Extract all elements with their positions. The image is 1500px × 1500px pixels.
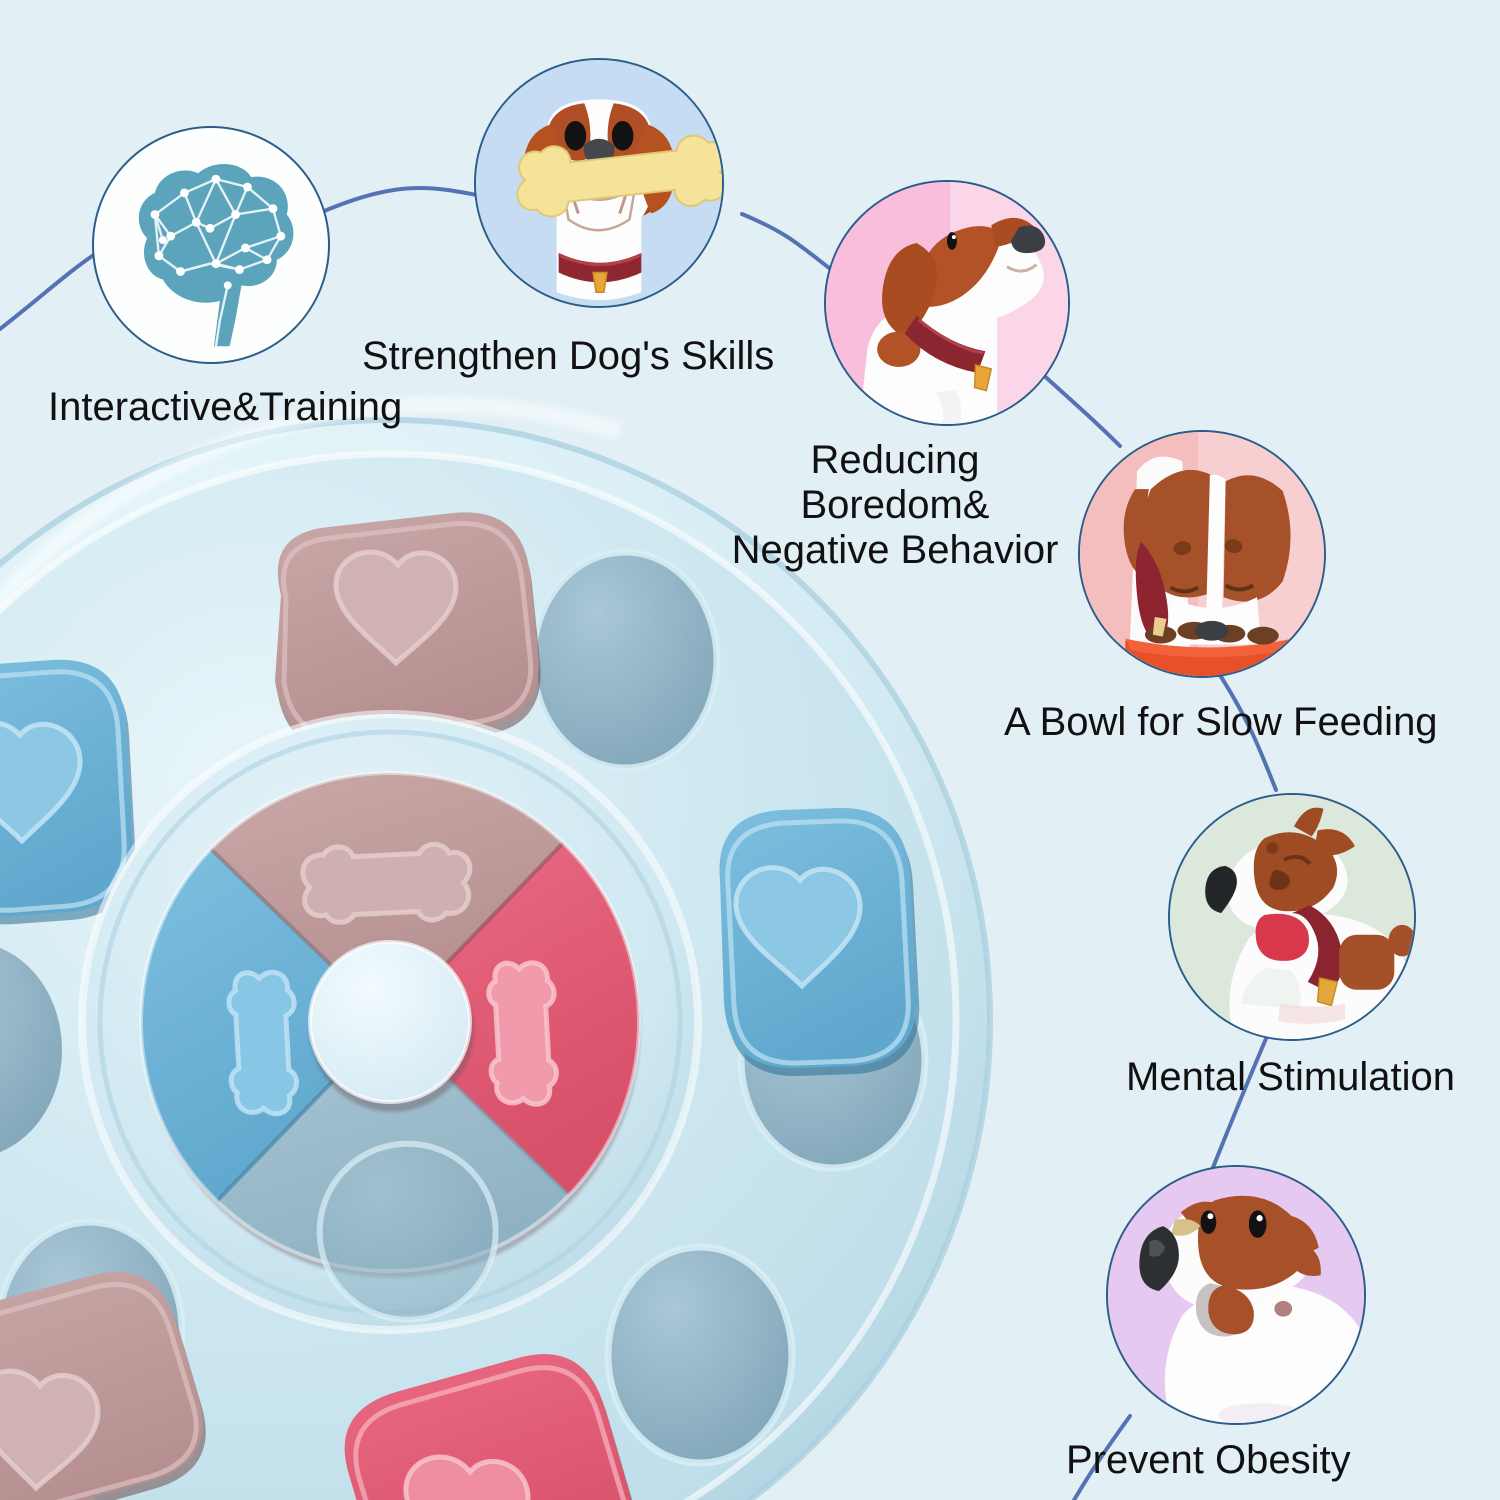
feature-bubble-mental-stimulation[interactable]	[1168, 793, 1416, 1041]
slider-right-blue-heart[interactable]	[720, 808, 920, 1076]
label-mental-stimulation: Mental Stimulation	[1126, 1055, 1455, 1100]
connector-left-tail	[0, 246, 108, 352]
label-interactive-training: Interactive&Training	[48, 385, 402, 430]
feature-bubble-strengthen-skills[interactable]	[474, 58, 724, 308]
bone-emboss-right	[488, 962, 557, 1105]
dog-eating-bowl-icon	[1080, 432, 1324, 676]
connector-brain-to-bone	[322, 188, 482, 212]
feature-bubble-reducing-boredom[interactable]	[824, 180, 1070, 426]
feature-bubble-slow-feeding[interactable]	[1078, 430, 1326, 678]
brain-icon	[94, 128, 328, 362]
bone-emboss-left	[228, 972, 297, 1115]
label-reducing-boredom: Reducing Boredom& Negative Behavior	[730, 438, 1060, 572]
dog-chubby-icon	[1108, 1167, 1364, 1423]
feature-bubble-prevent-obesity[interactable]	[1106, 1165, 1366, 1425]
dog-with-bone-icon	[476, 60, 722, 306]
dog-running-icon	[1170, 795, 1414, 1039]
label-prevent-obesity: Prevent Obesity	[1066, 1438, 1351, 1483]
label-strengthen-skills: Strengthen Dog's Skills	[362, 334, 774, 379]
infographic-stage: Interactive&Training Strengthen Dog's Sk…	[0, 0, 1500, 1500]
bone-emboss-top	[302, 844, 470, 923]
label-slow-feeding: A Bowl for Slow Feeding	[1004, 700, 1438, 745]
feature-bubble-interactive-training[interactable]	[92, 126, 330, 364]
dog-sitting-pink-icon	[826, 182, 1068, 424]
